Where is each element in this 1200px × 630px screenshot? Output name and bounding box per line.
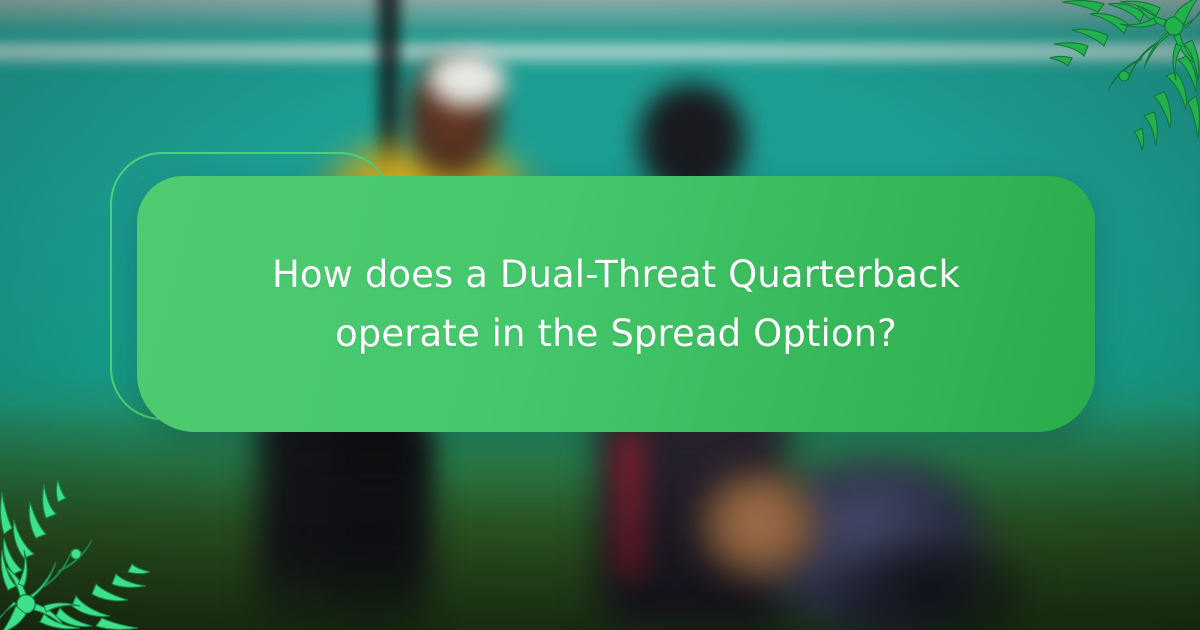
player-left-cap bbox=[424, 52, 506, 110]
quote-card-banner: How does a Dual-Threat Quarterback opera… bbox=[0, 0, 1200, 630]
question-card: How does a Dual-Threat Quarterback opera… bbox=[137, 176, 1095, 432]
player-crouching-arm bbox=[700, 470, 820, 580]
question-text: How does a Dual-Threat Quarterback opera… bbox=[236, 245, 996, 363]
fence-rail bbox=[0, 38, 1200, 64]
player-left-legs bbox=[330, 430, 426, 630]
player-right-stripe bbox=[612, 430, 646, 580]
